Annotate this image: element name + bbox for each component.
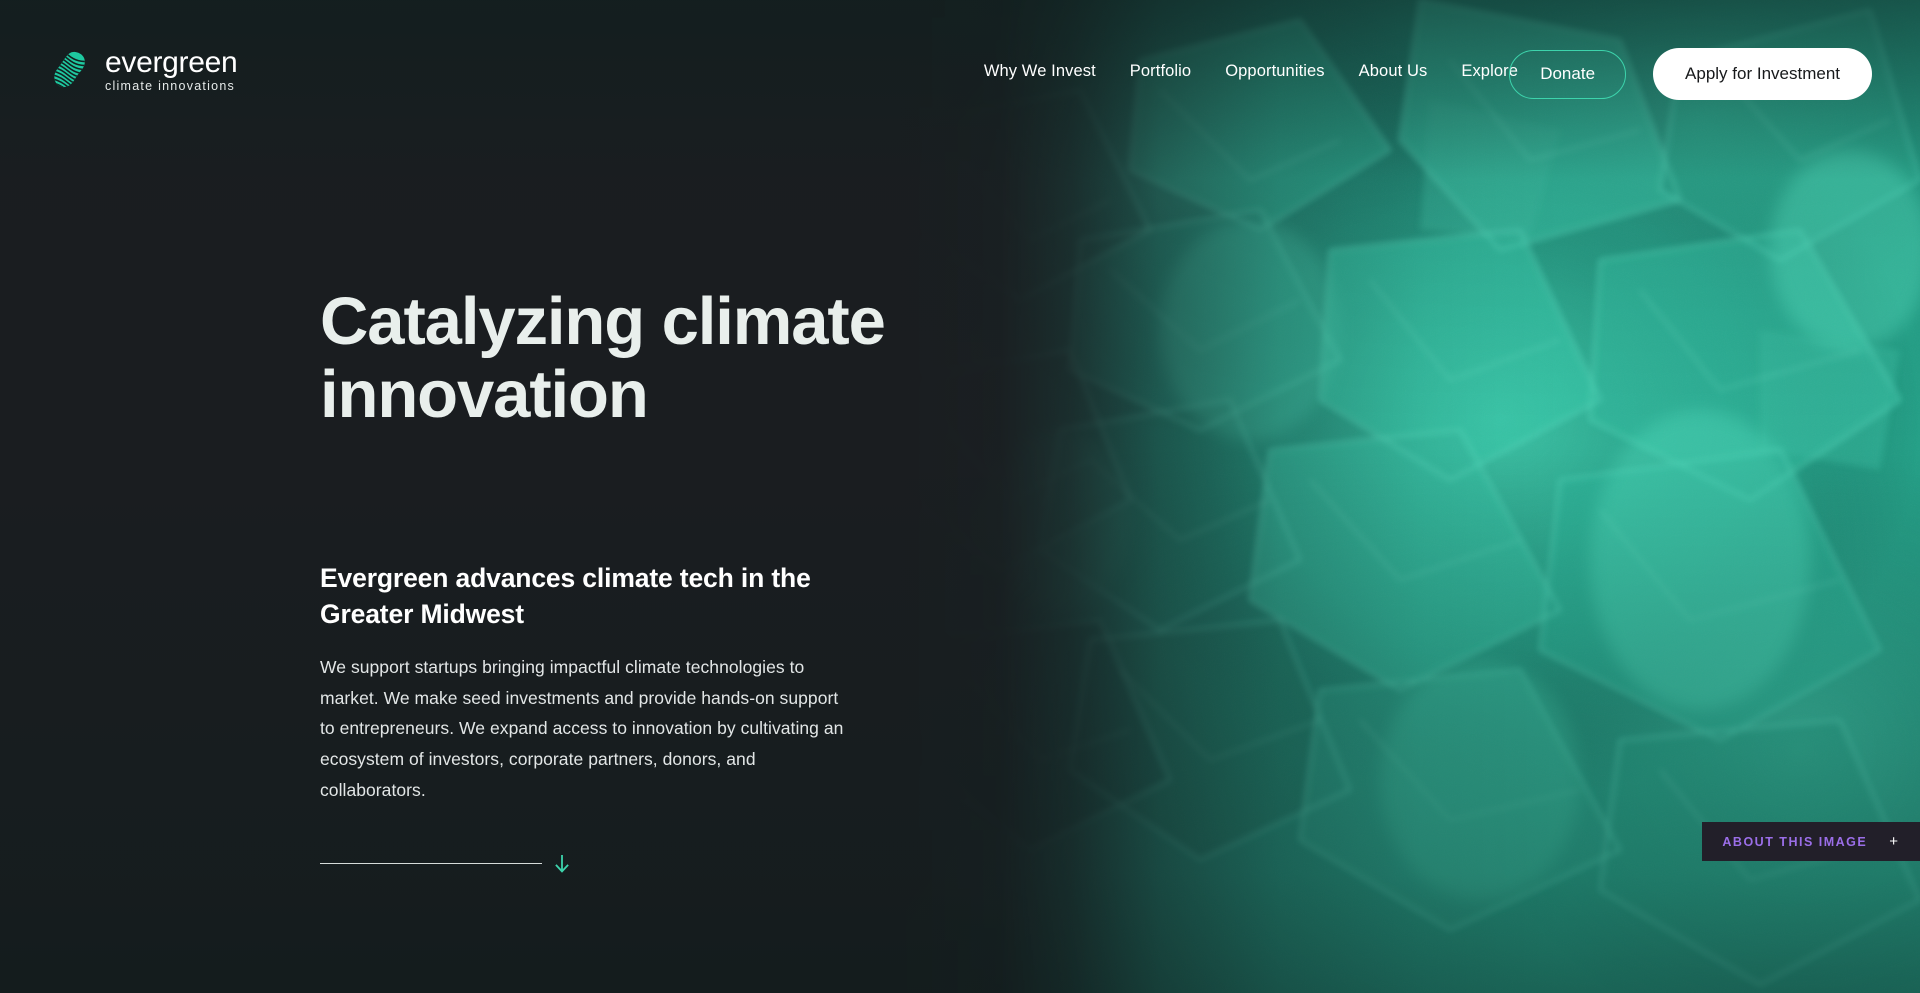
about-this-image-badge[interactable]: ABOUT THIS IMAGE + [1702,822,1920,861]
scroll-divider-rule [320,863,542,864]
nav-item-portfolio[interactable]: Portfolio [1130,62,1191,81]
plus-icon[interactable]: + [1889,834,1898,849]
about-this-image-label: ABOUT THIS IMAGE [1722,835,1867,849]
nav-item-about-us[interactable]: About Us [1359,62,1428,81]
hero-body-text: We support startups bringing impactful c… [320,652,850,806]
background-vertical-shade [0,0,1920,993]
header-actions: Donate Apply for Investment [1509,48,1872,100]
site-header: evergreen climate innovations Why We Inv… [0,0,1920,128]
primary-navigation: Why We Invest Portfolio Opportunities Ab… [984,62,1518,81]
hero-intro-block: Evergreen advances climate tech in the G… [320,561,960,875]
brand-wordmark: evergreen climate innovations [105,48,237,93]
hero-section: Catalyzing climate innovation Evergreen … [320,286,960,876]
donate-button[interactable]: Donate [1509,50,1626,99]
page-title: Catalyzing climate innovation [320,286,940,431]
scroll-indicator[interactable] [320,852,960,876]
evergreen-swirl-logo-icon [50,49,92,91]
nav-item-why-we-invest[interactable]: Why We Invest [984,62,1096,81]
page-root: evergreen climate innovations Why We Inv… [0,0,1920,993]
brand-tagline: climate innovations [105,80,237,93]
brand-logo[interactable]: evergreen climate innovations [50,48,237,93]
hero-subtitle: Evergreen advances climate tech in the G… [320,561,868,631]
arrow-down-icon[interactable] [550,852,574,876]
hero-background [0,0,1920,993]
brand-name: evergreen [105,48,237,78]
nav-item-opportunities[interactable]: Opportunities [1225,62,1324,81]
apply-for-investment-button[interactable]: Apply for Investment [1653,48,1872,100]
